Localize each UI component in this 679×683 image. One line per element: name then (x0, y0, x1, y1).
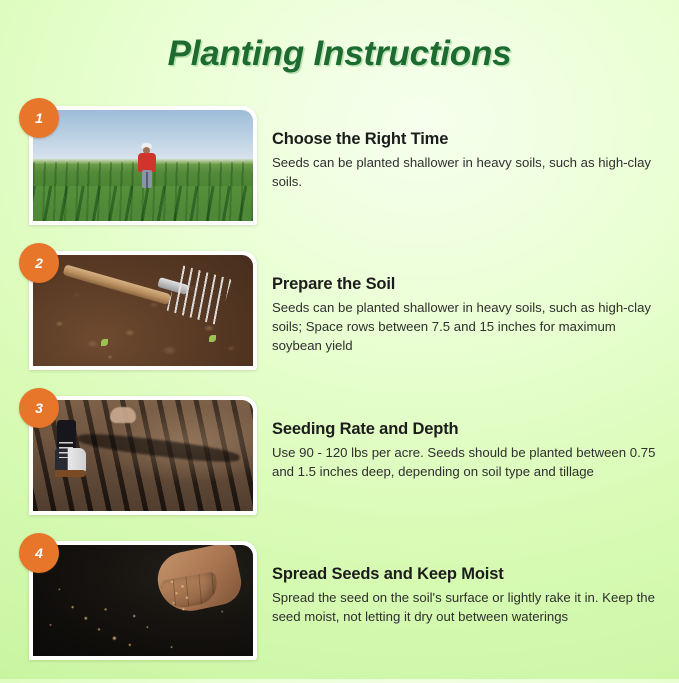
steps-list: 1 Choose the Right Time Seeds can be pla… (0, 98, 679, 683)
step-text-2: Prepare the Soil Seeds can be planted sh… (272, 275, 664, 355)
falling-seeds (166, 578, 196, 616)
step-image-card-2 (29, 251, 257, 370)
step-title-2: Prepare the Soil (272, 275, 664, 294)
step-image-card-1 (29, 106, 257, 225)
step-text-4: Spread Seeds and Keep Moist Spread the s… (272, 565, 664, 626)
step-image-card-4 (29, 541, 257, 660)
rake-on-soil-image (33, 255, 253, 366)
step-body-2: Seeds can be planted shallower in heavy … (272, 298, 664, 355)
step-title-1: Choose the Right Time (272, 130, 664, 149)
step-item-1: 1 Choose the Right Time Seeds can be pla… (0, 98, 679, 243)
step-text-1: Choose the Right Time Seeds can be plant… (272, 130, 664, 191)
step-number-badge-4: 4 (19, 533, 59, 573)
farmer-figure (136, 143, 158, 187)
hand-shape (110, 407, 136, 423)
step-body-4: Spread the seed on the soil's surface or… (272, 588, 664, 626)
boot-laces (59, 442, 73, 458)
step-title-3: Seeding Rate and Depth (272, 420, 664, 439)
step-title-4: Spread Seeds and Keep Moist (272, 565, 664, 584)
step-item-2: 2 Prepare the Soil Seeds can be planted … (0, 243, 679, 388)
planting-instructions-infographic: Planting Instructions 1 Choose the R (0, 0, 679, 679)
boot-sole (55, 470, 86, 477)
farmer-in-soybean-field-image (33, 110, 253, 221)
step-item-3: 3 Seeding Rate and Depth Use 90 - 120 lb… (0, 388, 679, 533)
step-body-1: Seeds can be planted shallower in heavy … (272, 153, 664, 191)
step-number-badge-3: 3 (19, 388, 59, 428)
sprout-icon (209, 335, 216, 342)
boot-in-furrow-image (33, 400, 253, 511)
step-image-card-3 (29, 396, 257, 515)
hand-scattering-seeds-image (33, 545, 253, 656)
step-text-3: Seeding Rate and Depth Use 90 - 120 lbs … (272, 420, 664, 481)
page-title: Planting Instructions (0, 34, 679, 74)
step-body-3: Use 90 - 120 lbs per acre. Seeds should … (272, 443, 664, 481)
step-item-4: 4 Spread Seeds and Keep Moist Spread the… (0, 533, 679, 683)
step-number-badge-1: 1 (19, 98, 59, 138)
boot-figure (53, 420, 87, 486)
legs-shape (142, 170, 152, 188)
step-number-badge-2: 2 (19, 243, 59, 283)
